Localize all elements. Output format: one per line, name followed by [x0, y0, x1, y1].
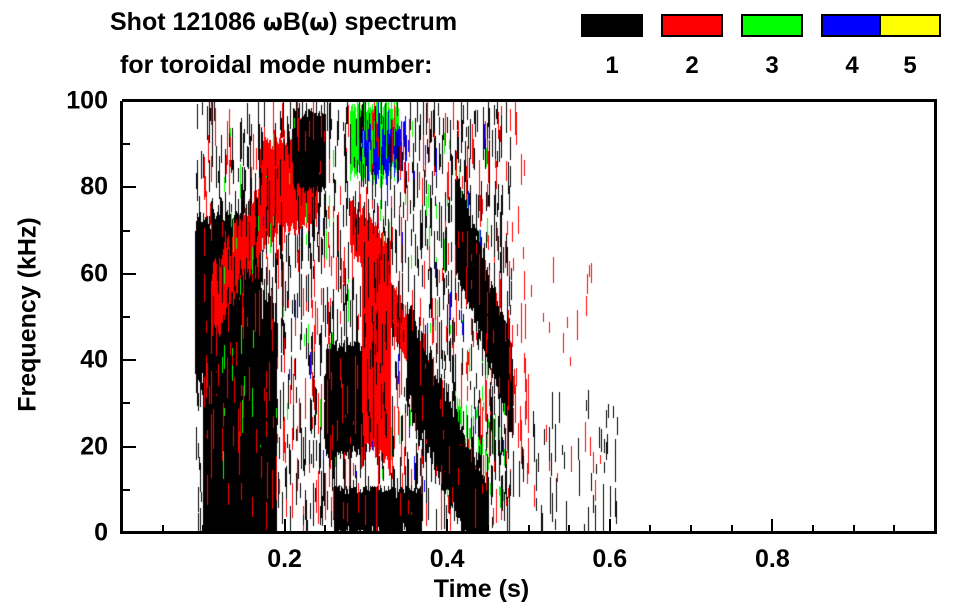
x-tick-label-0.4: 0.4	[430, 545, 465, 574]
x-tick-0.60	[609, 519, 611, 533]
y-tick-30	[122, 402, 130, 404]
x-tick-label-0.8: 0.8	[755, 545, 790, 574]
legend-label-3: 3	[741, 52, 803, 80]
legend-swatch-4	[821, 14, 883, 37]
x-tick-0.15	[243, 525, 245, 533]
y-axis-label: Frequency (kHz)	[14, 195, 43, 435]
y-tick-label-20: 20	[4, 432, 108, 461]
y-tick-10	[122, 489, 130, 491]
y-tick-50	[122, 316, 130, 318]
x-tick-0.30	[365, 525, 367, 533]
legend-swatch-1	[581, 14, 643, 37]
y-tick-70	[122, 230, 130, 232]
spectrogram-canvas	[122, 101, 935, 533]
y-tick-90	[122, 143, 130, 145]
x-tick-0.70	[690, 525, 692, 533]
y-tick-label-0: 0	[4, 519, 108, 548]
plot-area	[122, 101, 935, 533]
x-tick-0.50	[528, 525, 530, 533]
y-tick-20	[122, 446, 136, 448]
y-tick-0	[122, 532, 136, 534]
x-tick-0.40	[446, 519, 448, 533]
y-tick-label-100: 100	[4, 87, 108, 116]
x-tick-0.65	[649, 525, 651, 533]
x-axis-label: Time (s)	[0, 575, 963, 604]
x-tick-1.00	[934, 525, 936, 533]
spectrogram-figure: Shot 121086 ωB(ω) spectrum for toroidal …	[0, 0, 963, 615]
legend-swatch-3	[741, 14, 803, 37]
y-tick-100	[122, 100, 136, 102]
x-tick-0.45	[487, 525, 489, 533]
x-tick-0.55	[568, 525, 570, 533]
x-tick-0.85	[812, 525, 814, 533]
y-tick-40	[122, 359, 136, 361]
y-tick-60	[122, 273, 136, 275]
x-tick-0.10	[202, 525, 204, 533]
plot-top-border	[122, 99, 937, 102]
legend-label-2: 2	[661, 52, 723, 80]
y-tick-80	[122, 186, 136, 188]
legend-label-1: 1	[581, 52, 643, 80]
x-tick-label-0.2: 0.2	[267, 545, 302, 574]
legend-swatch-2	[661, 14, 723, 37]
x-tick-0.25	[324, 525, 326, 533]
x-tick-0.90	[853, 525, 855, 533]
x-tick-0.05	[162, 525, 164, 533]
legend-label-5: 5	[879, 52, 941, 80]
x-tick-label-0.6: 0.6	[592, 545, 627, 574]
x-tick-0.80	[771, 519, 773, 533]
plot-right-border	[934, 101, 937, 534]
mode-number-legend: 12345	[0, 0, 963, 96]
legend-label-4: 4	[821, 52, 883, 80]
x-tick-0.20	[284, 519, 286, 533]
x-tick-0.75	[731, 525, 733, 533]
x-tick-0.95	[893, 525, 895, 533]
legend-swatch-5	[879, 14, 941, 37]
x-tick-0.35	[406, 525, 408, 533]
